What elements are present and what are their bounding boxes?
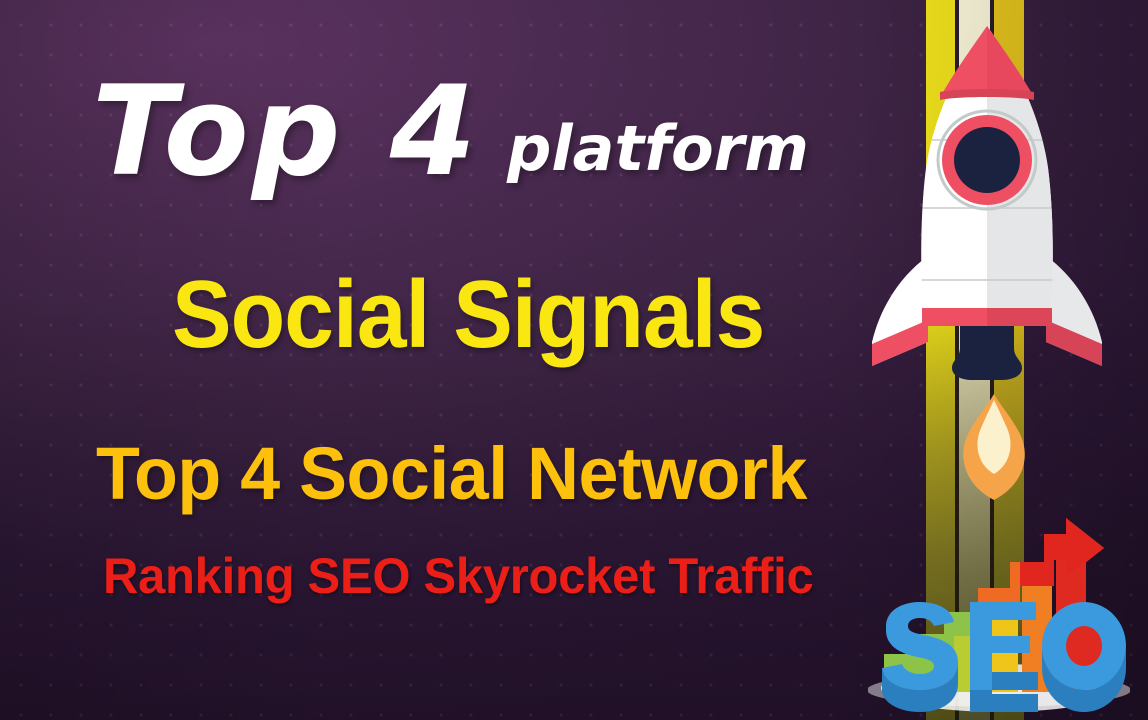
headline-primary: Top 4 platform [92, 70, 809, 194]
headline-ranking-seo: Ranking SEO Skyrocket Traffic [103, 551, 813, 601]
headline-top4: Top 4 [92, 70, 479, 194]
rocket-illustration [862, 8, 1112, 408]
seo-3d-logo [868, 482, 1130, 720]
headline-social-signals: Social Signals [172, 267, 764, 363]
headline-platform: platform [507, 118, 809, 180]
headline-top4-social-network: Top 4 Social Network [96, 437, 807, 511]
poster-canvas: Top 4 platform Social Signals Top 4 Soci… [0, 0, 1148, 720]
